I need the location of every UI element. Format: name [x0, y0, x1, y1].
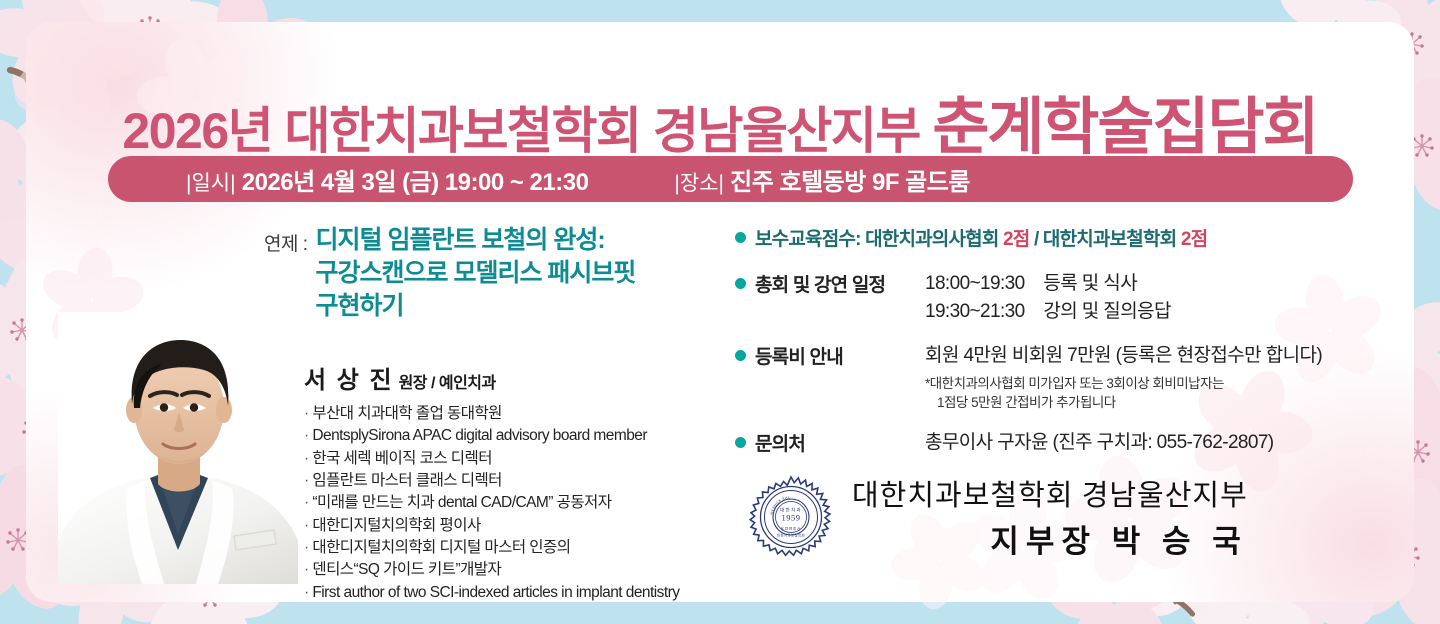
poster-title-prefix: 2026년 대한치과보철학회 경남울산지부	[122, 103, 920, 159]
credit-label-b: / 대한치과보철학회	[1029, 229, 1180, 250]
table-row: 19:30~21:30 강의 및 질의응답	[925, 298, 1171, 326]
chief-name: 지부장 박 승 국	[852, 516, 1248, 561]
list-item: DentsplySirona APAC digital advisory boa…	[304, 425, 724, 447]
contact-label: 문의처	[755, 429, 925, 456]
table-row: 18:00~19:30 등록 및 식사	[925, 270, 1171, 298]
topic-label: 연제 :	[264, 224, 308, 256]
fee-row: 등록비 안내 회원 4만원 비회원 7만원 (등록은 현장접수만 합니다)	[735, 342, 1375, 370]
speaker-cv-list: 부산대 치과대학 졸업 동대학원 DentsplySirona APAC dig…	[304, 403, 724, 604]
schedule-row: 총회 및 강연 일정 18:00~19:30 등록 및 식사 19:30~21:…	[735, 270, 1375, 325]
list-item: “미래를 만드는 치과 dental CAD/CAM” 공동저자	[304, 492, 724, 514]
credit-label-a: 보수교육점수: 대한치과의사협회	[755, 229, 1003, 250]
signature-text: 대한치과보철학회 경남울산지부 지부장 박 승 국	[852, 472, 1248, 561]
date-label: |일시|	[186, 172, 236, 195]
organization-name: 대한치과보철학회 경남울산지부	[852, 472, 1248, 514]
list-item: 대한디지털치의학회 평이사	[304, 515, 724, 537]
list-item: 부산대 치과대학 졸업 동대학원	[304, 403, 724, 425]
svg-text:대한치과보철학회: 대한치과보철학회	[777, 532, 805, 537]
svg-text:1959: 1959	[782, 512, 801, 522]
event-place: |장소| 진주 호텔동방 9F 골드룸	[674, 162, 969, 197]
fee-footnote-line-1: *대한치과의사협회 미가입자 또는 3회이상 회비미납자는	[925, 375, 1375, 394]
signature-block: 1959 대한치과 KOREA 대한치과보철학회 THE KOREAN ACAD…	[748, 472, 1248, 561]
place-value: 진주 호텔동방 9F 골드룸	[730, 169, 970, 196]
contact-value: 총무이사 구자윤 (진주 구치과: 055-762-2807)	[925, 429, 1274, 457]
topic-line-1: 디지털 임플란트 보철의 완성:	[316, 224, 636, 257]
credit-value-b: 2점	[1181, 229, 1207, 250]
topic-line-3: 구현하기	[316, 290, 636, 323]
credit-text: 보수교육점수: 대한치과의사협회 2점 / 대한치과보철학회 2점	[755, 224, 1207, 251]
svg-text:KOREA: KOREA	[781, 526, 801, 531]
bullet-icon	[735, 278, 746, 289]
speaker-column: 연제 : 디지털 임플란트 보철의 완성: 구강스캔으로 모델리스 패시브핏 구…	[46, 212, 706, 582]
fee-label: 등록비 안내	[755, 342, 925, 369]
event-info-bar: |일시| 2026년 4월 3일 (금) 19:00 ~ 21:30 |장소| …	[108, 156, 1353, 202]
speaker-name-row: 서 상 진원장 / 예인치과	[304, 360, 724, 395]
speaker-name: 서 상 진	[304, 360, 394, 395]
date-value: 2026년 4월 3일 (금) 19:00 ~ 21:30	[242, 169, 589, 196]
list-item: 임플란트 마스터 클래스 디렉터	[304, 470, 724, 492]
bullet-icon	[735, 232, 746, 243]
svg-text:대한치과: 대한치과	[780, 506, 802, 513]
credit-value-a: 2점	[1003, 229, 1029, 250]
schedule-label: 총회 및 강연 일정	[755, 270, 925, 297]
details-column: 보수교육점수: 대한치과의사협회 2점 / 대한치과보철학회 2점 총회 및 강…	[735, 224, 1375, 457]
contact-row: 문의처 총무이사 구자윤 (진주 구치과: 055-762-2807)	[735, 429, 1375, 457]
schedule-values: 18:00~19:30 등록 및 식사 19:30~21:30 강의 및 질의응…	[925, 270, 1171, 325]
speaker-photo	[58, 312, 298, 584]
list-item: 대한디지털치의학회 디지털 마스터 인증의	[304, 537, 724, 559]
topic-line-2: 구강스캔으로 모델리스 패시브핏	[316, 257, 636, 290]
fee-footnote-line-2: 1점당 5만원 간접비가 추가됩니다	[925, 394, 1375, 413]
topic-text: 디지털 임플란트 보철의 완성: 구강스캔으로 모델리스 패시브핏 구현하기	[316, 224, 636, 323]
speaker-affiliation: 원장 / 예인치과	[399, 375, 496, 392]
schedule-item: 강의 및 질의응답	[1043, 301, 1171, 322]
society-seal-icon: 1959 대한치과 KOREA 대한치과보철학회 THE KOREAN ACAD…	[748, 474, 834, 560]
list-item: 덴티스“SQ 가이드 키트”개발자	[304, 559, 724, 581]
place-label: |장소|	[674, 172, 724, 195]
credit-row: 보수교육점수: 대한치과의사협회 2점 / 대한치과보철학회 2점	[735, 224, 1375, 251]
lecture-topic: 연제 : 디지털 임플란트 보철의 완성: 구강스캔으로 모델리스 패시브핏 구…	[264, 224, 714, 323]
bullet-icon	[735, 437, 746, 448]
event-date: |일시| 2026년 4월 3일 (금) 19:00 ~ 21:30	[186, 162, 588, 197]
list-item: First author of two SCI-indexed articles…	[304, 582, 724, 604]
schedule-item: 등록 및 식사	[1043, 273, 1137, 294]
bullet-icon	[735, 350, 746, 361]
poster-title: 2026년 대한치과보철학회 경남울산지부 춘계학술집담회	[0, 76, 1440, 166]
poster-title-main: 춘계학술집담회	[932, 93, 1317, 162]
list-item: 한국 세렉 베이직 코스 디렉터	[304, 448, 724, 470]
fee-footnote: *대한치과의사협회 미가입자 또는 3회이상 회비미납자는 1점당 5만원 간접…	[925, 375, 1375, 412]
fee-value: 회원 4만원 비회원 7만원 (등록은 현장접수만 합니다)	[925, 342, 1322, 370]
speaker-info: 서 상 진원장 / 예인치과 부산대 치과대학 졸업 동대학원 Dentsply…	[304, 360, 724, 604]
schedule-time: 19:30~21:30	[925, 301, 1025, 322]
schedule-time: 18:00~19:30	[925, 273, 1025, 294]
